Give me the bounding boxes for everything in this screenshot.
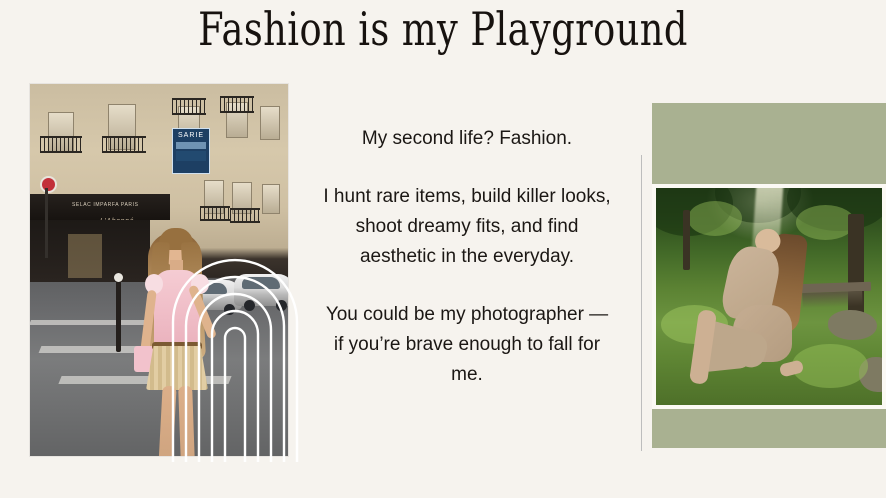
shop-sign-text: SARIE bbox=[173, 129, 209, 140]
page-title: Fashion is my Playground bbox=[89, 2, 798, 56]
shop-sign: SARIE bbox=[172, 128, 210, 174]
building-window bbox=[260, 106, 280, 140]
awning-label: SELAC IMPARFA PARIS bbox=[72, 202, 139, 208]
balcony-railing bbox=[200, 206, 230, 221]
sign-post bbox=[45, 188, 48, 258]
left-photo: SARIE SELAC IMPARFA PARIS L'Abonné bbox=[30, 84, 288, 456]
balcony-railing bbox=[220, 96, 254, 113]
park-bench bbox=[796, 282, 871, 293]
tree-trunk bbox=[683, 210, 690, 271]
balcony-railing bbox=[40, 136, 82, 153]
balcony-railing bbox=[102, 136, 146, 153]
paragraph-spacer bbox=[296, 272, 638, 300]
shop-sign-panel bbox=[176, 142, 206, 149]
model-leg-right bbox=[178, 386, 196, 456]
right-photo bbox=[656, 188, 882, 405]
paragraph-2-line-2: shoot dreamy fits, and find bbox=[296, 212, 638, 242]
building-window bbox=[262, 184, 280, 214]
balcony-railing bbox=[230, 208, 260, 223]
paragraph-3-line-3: me. bbox=[296, 360, 638, 390]
paragraph-2-line-3: aesthetic in the everyday. bbox=[296, 242, 638, 272]
paragraph-3-line-1: You could be my photographer — bbox=[296, 300, 638, 330]
street-scene-backdrop: SARIE SELAC IMPARFA PARIS L'Abonné bbox=[30, 84, 288, 456]
car-wheel bbox=[224, 304, 235, 315]
road-marking bbox=[30, 320, 151, 325]
body-text-block: My second life? Fashion. I hunt rare ite… bbox=[296, 124, 638, 390]
storefront-glow bbox=[68, 234, 102, 278]
model-skirt bbox=[146, 346, 208, 390]
slide-canvas: Fashion is my Playground SARIE bbox=[0, 0, 886, 498]
model-leg-left bbox=[157, 386, 176, 456]
paragraph-3-line-2: if you’re brave enough to fall for bbox=[296, 330, 638, 360]
street-bollard bbox=[116, 280, 121, 352]
vertical-divider bbox=[641, 155, 642, 451]
right-photo-frame bbox=[652, 184, 886, 409]
paragraph-spacer bbox=[296, 154, 638, 182]
tree-highlight bbox=[796, 205, 855, 240]
no-entry-sign bbox=[40, 176, 57, 193]
car-wheel bbox=[244, 300, 255, 311]
tree-highlight bbox=[688, 201, 742, 236]
paragraph-2-line-1: I hunt rare items, build killer looks, bbox=[296, 182, 638, 212]
paragraph-1: My second life? Fashion. bbox=[296, 124, 638, 154]
car-wheel bbox=[276, 300, 287, 311]
shop-sign-panel bbox=[176, 151, 206, 161]
meadow-grass bbox=[792, 344, 869, 387]
balcony-railing bbox=[172, 98, 206, 115]
